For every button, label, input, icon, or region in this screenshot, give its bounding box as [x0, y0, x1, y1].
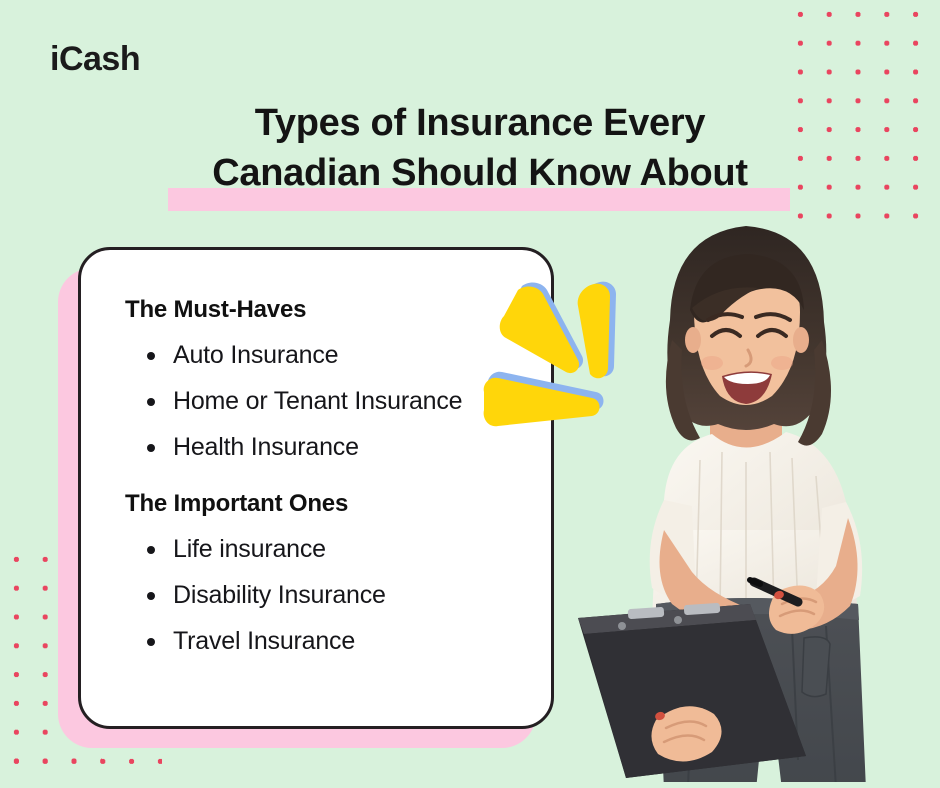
page-title-line-2: Canadian Should Know About: [150, 148, 810, 198]
poster-canvas: iCash Types of Insurance Every Canadian …: [0, 0, 940, 788]
list-item: Life insurance: [143, 526, 523, 572]
list-item: Travel Insurance: [143, 618, 523, 664]
list-item: Disability Insurance: [143, 572, 523, 618]
page-title-line-1: Types of Insurance Every: [255, 102, 705, 144]
page-title: Types of Insurance Every Canadian Should…: [150, 98, 810, 198]
list-important-ones: Life insurance Disability Insurance Trav…: [143, 526, 523, 664]
bottom-strip: [0, 782, 940, 788]
brand-logo: iCash: [50, 40, 140, 79]
group-heading-must-haves: The Must-Haves: [125, 296, 523, 324]
page-title-wrapper: Types of Insurance Every Canadian Should…: [150, 98, 810, 198]
group-heading-important-ones: The Important Ones: [125, 490, 523, 518]
sparkle-burst-icon: [466, 272, 646, 452]
